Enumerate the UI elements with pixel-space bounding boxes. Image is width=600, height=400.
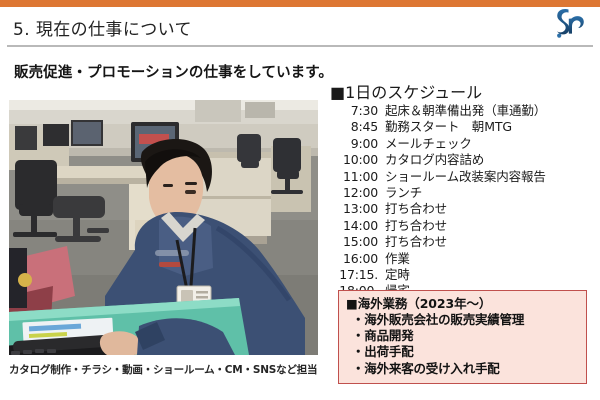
schedule-row: 8:45勤務スタート 朝MTG [330,119,594,135]
schedule-time: 17:15. [330,267,378,283]
photo-caption: カタログ制作・チラシ・動画・ショールーム・CM・SNSなど担当 [9,362,317,377]
schedule-time: 11:00 [330,169,378,185]
schedule-task: 作業 [378,251,410,267]
schedule-time: 8:45 [330,119,378,135]
schedule-list: 7:30起床＆朝準備出発（車通勤）8:45勤務スタート 朝MTG9:00メールチ… [330,103,594,300]
schedule-time: 12:00 [330,185,378,201]
workplace-photo [9,100,318,355]
schedule-row: 11:00ショールーム改装案内容報告 [330,169,594,185]
schedule-row: 16:00作業 [330,251,594,267]
schedule-time: 14:00 [330,218,378,234]
schedule-row: 7:30起床＆朝準備出発（車通勤） [330,103,594,119]
schedule-task: 打ち合わせ [378,201,447,217]
overseas-heading: ■海外業務（2023年～） [346,296,580,312]
overseas-duties-callout: ■海外業務（2023年～） ・海外販売会社の販売実績管理・商品開発・出荷手配・海… [338,290,587,384]
schedule-time: 10:00 [330,152,378,168]
schedule-task: カタログ内容詰め [378,152,484,168]
schedule-time: 7:30 [330,103,378,119]
company-logo-icon [548,4,592,44]
schedule-task: 勤務スタート 朝MTG [378,119,512,135]
schedule-task: 打ち合わせ [378,218,447,234]
schedule-task: 打ち合わせ [378,234,447,250]
schedule-task: ランチ [378,185,422,201]
overseas-duty-item: ・海外販売会社の販売実績管理 [346,312,580,328]
schedule-row: 15:00打ち合わせ [330,234,594,250]
schedule-row: 14:00打ち合わせ [330,218,594,234]
schedule-row: 10:00カタログ内容詰め [330,152,594,168]
schedule-row: 9:00メールチェック [330,136,594,152]
title-divider [7,45,593,47]
schedule-task: メールチェック [378,136,472,152]
daily-schedule-section: ■1日のスケジュール 7:30起床＆朝準備出発（車通勤）8:45勤務スタート 朝… [330,79,594,300]
schedule-task: ショールーム改装案内容報告 [378,169,546,185]
schedule-time: 16:00 [330,251,378,267]
schedule-row: 17:15.定時 [330,267,594,283]
overseas-duties-list: ・海外販売会社の販売実績管理・商品開発・出荷手配・海外来客の受け入れ手配 [346,312,580,377]
overseas-duty-item: ・商品開発 [346,328,580,344]
schedule-row: 13:00打ち合わせ [330,201,594,217]
schedule-time: 9:00 [330,136,378,152]
schedule-time: 15:00 [330,234,378,250]
subtitle-heading: 販売促進・プロモーションの仕事をしています。 [14,61,333,82]
schedule-row: 12:00ランチ [330,185,594,201]
schedule-heading: ■1日のスケジュール [330,79,594,103]
overseas-duty-item: ・海外来客の受け入れ手配 [346,361,580,377]
schedule-task: 起床＆朝準備出発（車通勤） [378,103,546,119]
overseas-duty-item: ・出荷手配 [346,344,580,360]
accent-top-bar [0,0,600,7]
schedule-time: 13:00 [330,201,378,217]
page-title: 5. 現在の仕事について [13,15,192,40]
schedule-task: 定時 [378,267,410,283]
